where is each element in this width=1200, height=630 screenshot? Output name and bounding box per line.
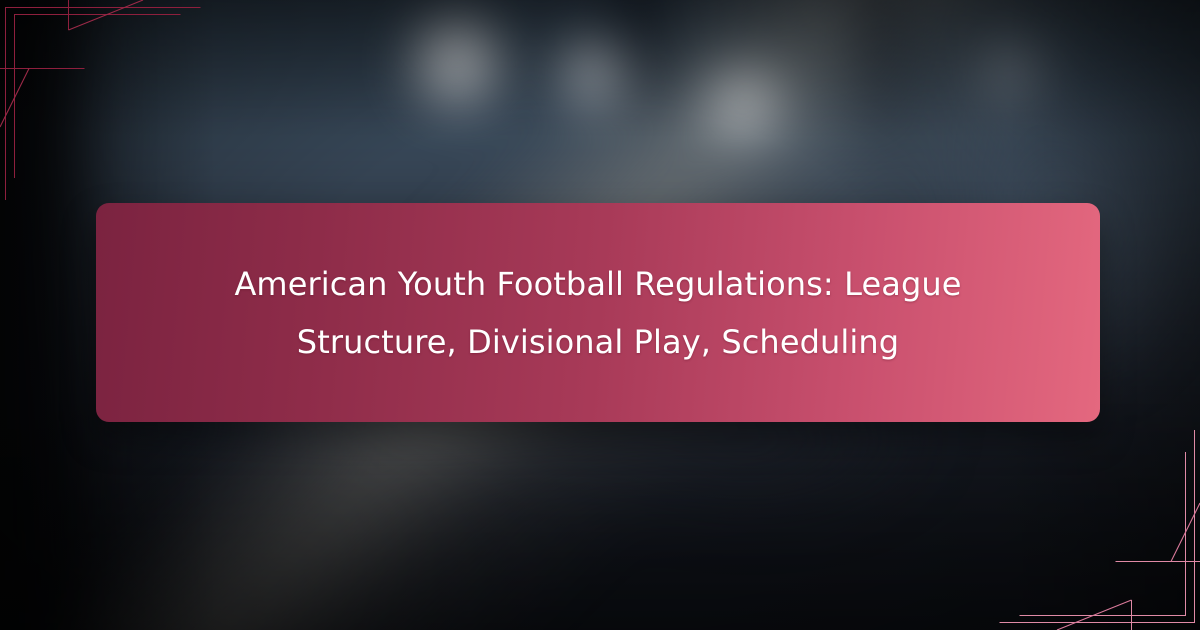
share-card-canvas: American Youth Football Regulations: Lea… (0, 0, 1200, 630)
title-card: American Youth Football Regulations: Lea… (96, 203, 1100, 422)
page-title: American Youth Football Regulations: Lea… (198, 255, 998, 371)
